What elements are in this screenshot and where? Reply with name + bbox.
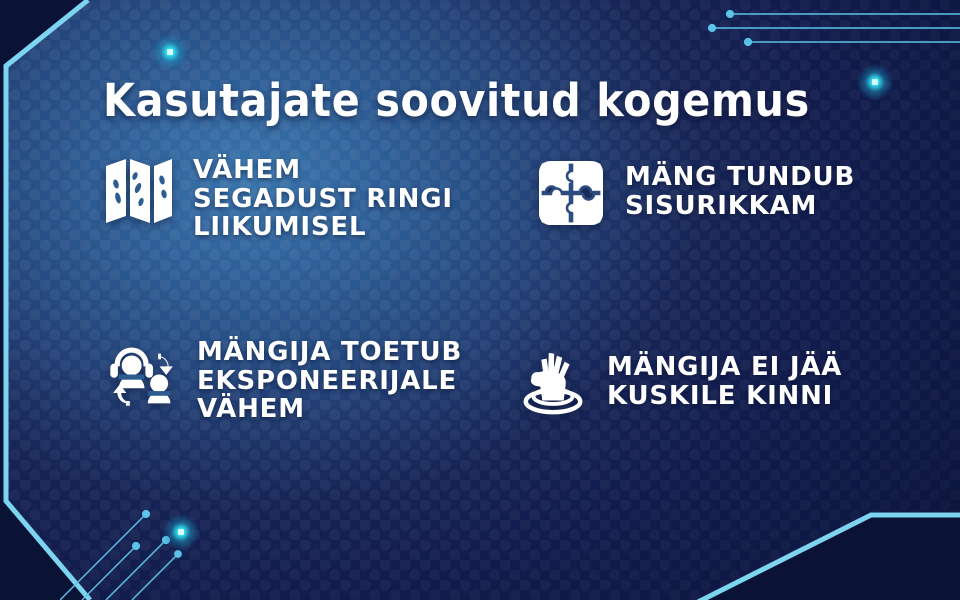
puzzle-pieces-icon [535, 157, 607, 229]
feature-label: MÄNGIJA EI JÄÄ KUSKILE KINNI [607, 347, 842, 410]
feature-item-richer-content: MÄNG TUNDUB SISURIKKAM [535, 157, 915, 229]
feature-label: MÄNG TUNDUB SISURIKKAM [625, 157, 855, 220]
page-title: Kasutajate soovitud kogemus [103, 74, 810, 127]
glow-dot-top-left [152, 34, 188, 70]
headset-support-exchange-icon [107, 338, 179, 410]
folded-map-icon [103, 155, 175, 227]
feature-item-less-exhibitor-support: MÄNGIJA TOETUB EKSPONEERIJALE VÄHEM [107, 338, 527, 424]
feature-item-less-confusion: VÄHEM SEGADUST RINGI LIIKUMISEL [103, 155, 523, 242]
slide-root: Kasutajate soovitud kogemus [0, 0, 960, 600]
glow-dot-top-right [857, 64, 893, 100]
feature-label: VÄHEM SEGADUST RINGI LIIKUMISEL [193, 155, 453, 242]
feature-item-not-stuck: MÄNGIJA EI JÄÄ KUSKILE KINNI [517, 347, 917, 419]
glow-dot-bottom-left [163, 514, 199, 550]
feature-grid: VÄHEM SEGADUST RINGI LIIKUMISEL [103, 155, 903, 485]
hand-stuck-in-hole-icon [517, 347, 589, 419]
feature-label: MÄNGIJA TOETUB EKSPONEERIJALE VÄHEM [197, 338, 462, 424]
